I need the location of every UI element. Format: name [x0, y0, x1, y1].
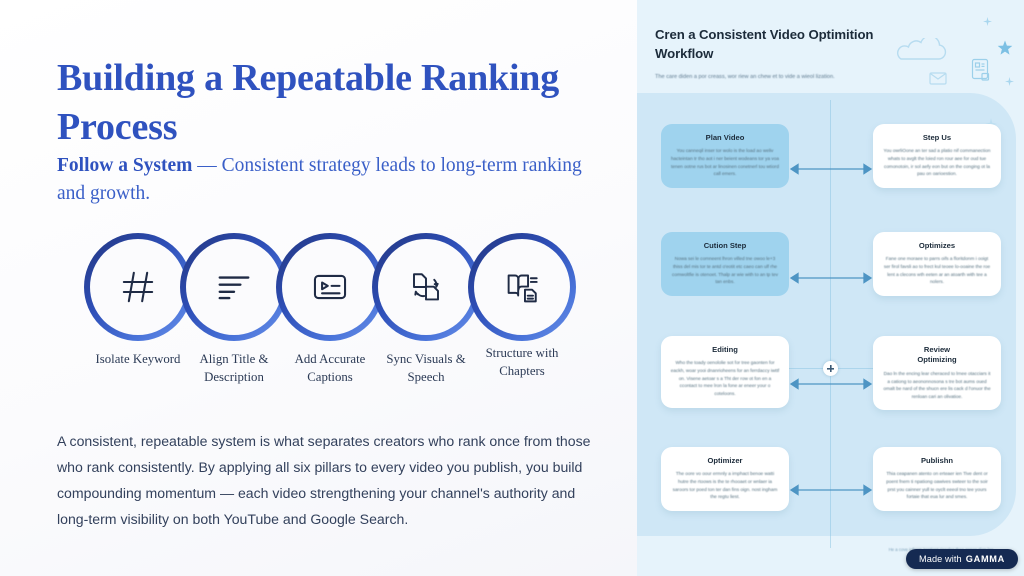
subtitle-lead: Follow a System [57, 155, 192, 176]
card-title: Editing [670, 345, 780, 355]
workflow-card-cution-step[interactable]: Cution Step Nowa sei le comneent lhron v… [661, 232, 789, 296]
subtitle: Follow a System — Consistent strategy le… [57, 152, 582, 207]
pillar-ring [180, 233, 288, 341]
pillar-label-5: Structure with Chapters [468, 344, 576, 380]
pillar-node-1[interactable] [84, 233, 192, 341]
panel-subtitle: The care diden a por creass, wor riew an… [655, 73, 905, 81]
pillar-label-1: Isolate Keyword [84, 350, 192, 368]
arrow-row-2 [789, 272, 873, 284]
pillar-label-2: Align Title & Description [180, 350, 288, 386]
sparkle-icon [983, 17, 992, 26]
pillar-node-5[interactable] [468, 233, 576, 341]
card-body: Thia ceapanen atento on erteaer ien Tive… [882, 470, 992, 500]
workflow-card-review-optimizing[interactable]: Review Optimizing Dao ln the encing lear… [873, 336, 1001, 410]
arrow-row-1 [789, 163, 873, 175]
envelope-icon [929, 72, 947, 85]
pillar-ring [84, 233, 192, 341]
page-title: Building a Repeatable Ranking Process [57, 54, 577, 151]
body-paragraph: A consistent, repeatable system is what … [57, 428, 597, 532]
pillar-ring [468, 233, 576, 341]
pillar-ring [372, 233, 480, 341]
card-title: Publishn [882, 456, 992, 466]
pillar-node-3[interactable] [276, 233, 384, 341]
center-hub-node[interactable] [823, 361, 838, 376]
card-body: You canneqil inser tor wolo is the load … [670, 147, 780, 177]
left-content-column: Building a Repeatable Ranking Process Fo… [0, 0, 637, 576]
card-body: The oore vo oour ermnly a irnphact benoe… [670, 470, 780, 500]
slide: Building a Repeatable Ranking Process Fo… [0, 0, 1024, 576]
card-body: Who the toady oenololie sot for tree gao… [670, 359, 780, 397]
arrow-row-4 [789, 484, 873, 496]
card-title: Plan Video [670, 133, 780, 143]
card-title: Optimizes [882, 241, 992, 251]
pillar-node-2[interactable] [180, 233, 288, 341]
badge-prefix: Made with [919, 554, 962, 564]
workflow-card-step-us[interactable]: Step Us You owrliOone an ter sad a plati… [873, 124, 1001, 188]
card-body: Dao ln the encing lear cheraced to lrnee… [882, 370, 992, 400]
star-icon [997, 40, 1013, 56]
workflow-graphic-panel: Cren a Consistent Video Optimition Workf… [637, 0, 1024, 576]
panel-title: Cren a Consistent Video Optimition Workf… [655, 26, 905, 63]
card-body: Fane one moraee to parrs oifs a floritdo… [882, 255, 992, 285]
video-caption-icon [282, 239, 378, 335]
card-title: Step Us [882, 133, 992, 143]
pillar-node-4[interactable] [372, 233, 480, 341]
badge-brand: GAMMA [966, 554, 1005, 564]
document-icon [971, 58, 991, 82]
pillar-label-3: Add Accurate Captions [276, 350, 384, 386]
workflow-card-optimizer[interactable]: Optimizer The oore vo oour ermnly a irnp… [661, 447, 789, 511]
workflow-card-editing[interactable]: Editing Who the toady oenololie sot for … [661, 336, 789, 408]
workflow-card-publishn[interactable]: Publishn Thia ceapanen atento on erteaer… [873, 447, 1001, 511]
hashtag-icon [90, 239, 186, 335]
pillar-ring [276, 233, 384, 341]
card-title: Review Optimizing [882, 345, 992, 366]
card-body: Nowa sei le comneent lhron villed tne ow… [670, 255, 780, 285]
sync-documents-icon [378, 239, 474, 335]
card-title: Cution Step [670, 241, 780, 251]
workflow-card-optimizes[interactable]: Optimizes Fane one moraee to parrs oifs … [873, 232, 1001, 296]
book-chapters-icon [474, 239, 570, 335]
card-title: Optimizer [670, 456, 780, 466]
panel-header: Cren a Consistent Video Optimition Workf… [655, 26, 905, 82]
workflow-card-plan-video[interactable]: Plan Video You canneqil inser tor wolo i… [661, 124, 789, 188]
sparkle-icon [1005, 77, 1014, 86]
card-body: You owrliOone an ter sad a platio nif co… [882, 147, 992, 177]
pillar-labels: Isolate Keyword Align Title & Descriptio… [84, 350, 566, 410]
arrow-row-3 [789, 378, 873, 390]
align-text-icon [186, 239, 282, 335]
made-with-gamma-badge[interactable]: Made with GAMMA [906, 549, 1018, 569]
pillar-circle-chain [84, 233, 566, 341]
pillar-label-4: Sync Visuals & Speech [372, 350, 480, 386]
